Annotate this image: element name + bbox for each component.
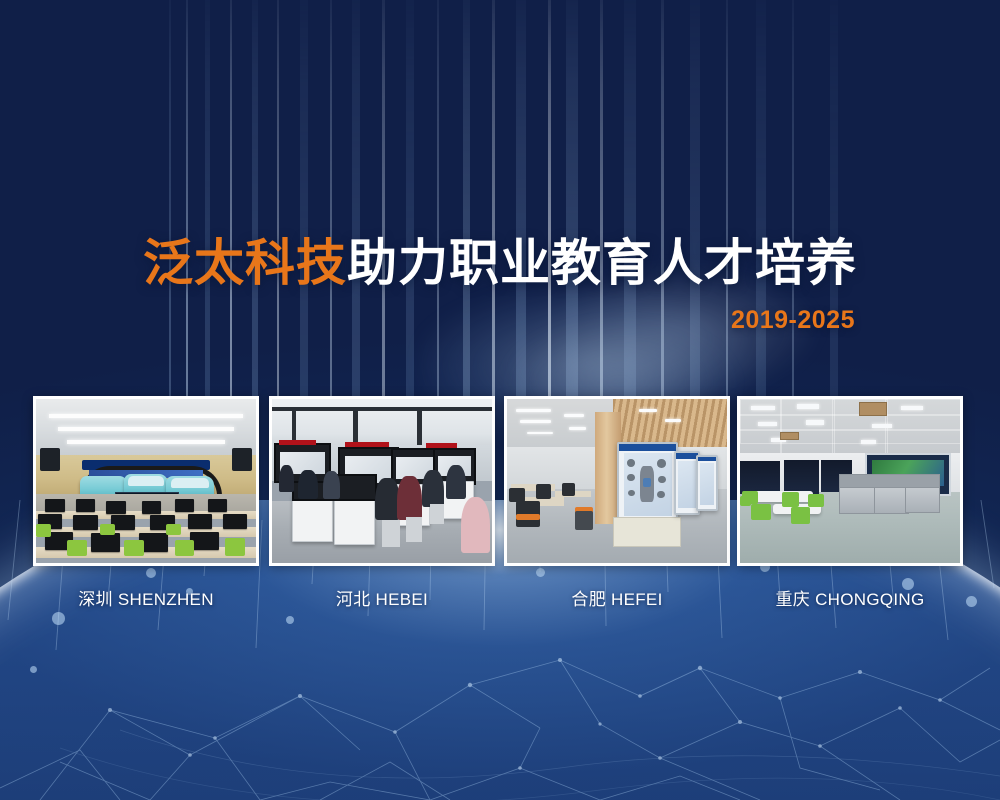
photo-image-hefei	[507, 399, 727, 563]
photo-card-chongqing[interactable]	[737, 396, 963, 566]
photo-image-shenzhen	[36, 399, 256, 563]
photo-image-chongqing	[740, 399, 960, 563]
photo-caption-hefei: 合肥 HEFEI	[504, 585, 730, 610]
photo-gallery: 深圳 SHENZHEN	[0, 0, 1000, 800]
photo-caption-shenzhen: 深圳 SHENZHEN	[33, 585, 259, 610]
poster-canvas: 泛太科技助力职业教育人才培养 2019-2025	[0, 0, 1000, 800]
photo-caption-hebei: 河北 HEBEI	[269, 585, 495, 610]
photo-card-hebei[interactable]	[269, 396, 495, 566]
photo-caption-chongqing: 重庆 CHONGQING	[737, 585, 963, 610]
photo-image-hebei	[272, 399, 492, 563]
photo-card-shenzhen[interactable]	[33, 396, 259, 566]
photo-card-hefei[interactable]	[504, 396, 730, 566]
